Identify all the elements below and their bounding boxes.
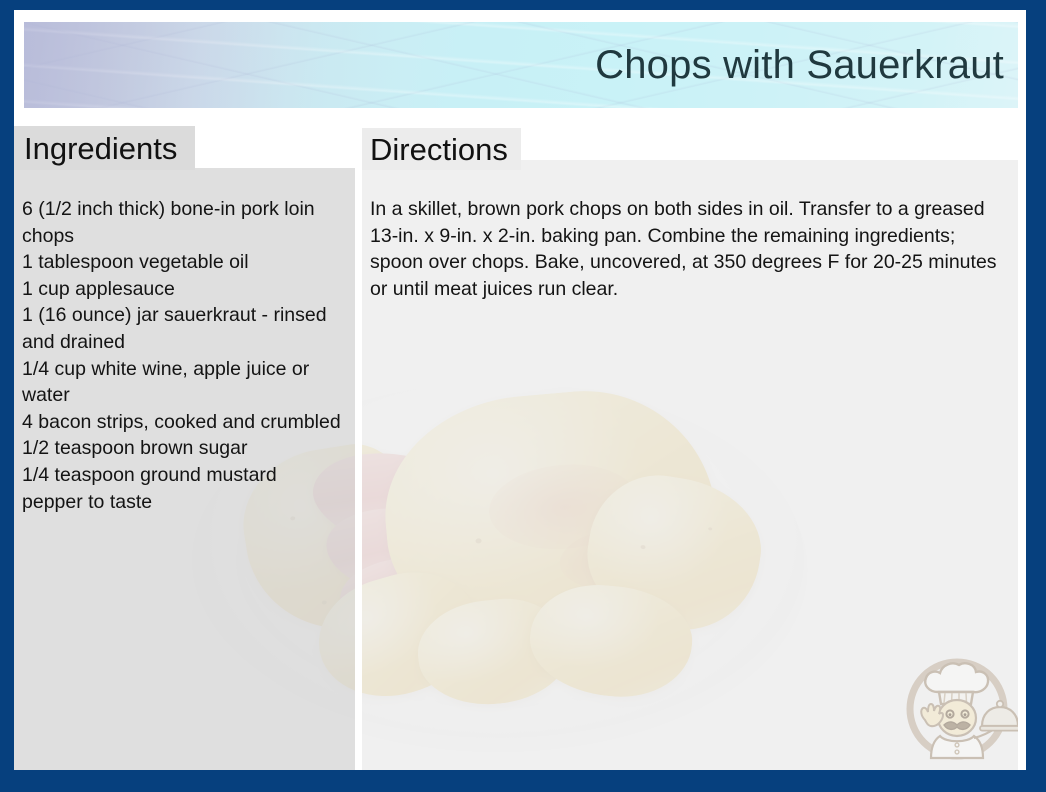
ingredient-item: 1 tablespoon vegetable oil — [22, 249, 350, 276]
page-title: Chops with Sauerkraut — [595, 44, 1004, 86]
frame-right — [1026, 0, 1046, 792]
tab-ingredients-label: Ingredients — [24, 133, 177, 164]
ingredients-list: 6 (1/2 inch thick) bone-in pork loin cho… — [22, 196, 350, 515]
tab-ingredients[interactable]: Ingredients — [14, 126, 195, 170]
chef-logo-icon — [896, 646, 1018, 768]
title-banner: Chops with Sauerkraut — [24, 22, 1018, 108]
frame-top — [0, 0, 1046, 10]
ingredient-item: 1 cup applesauce — [22, 276, 350, 303]
ingredient-item: pepper to taste — [22, 489, 350, 516]
tab-directions-label: Directions — [370, 134, 508, 165]
directions-text: In a skillet, brown pork chops on both s… — [370, 196, 1002, 302]
ingredient-item: 6 (1/2 inch thick) bone-in pork loin cho… — [22, 196, 350, 249]
recipe-slide: Ingredients Directions 6 (1/2 inch thick… — [0, 0, 1046, 792]
panel-divider — [355, 160, 362, 770]
frame-bottom — [0, 770, 1046, 792]
ingredient-item: 1 (16 ounce) jar sauerkraut - rinsed and… — [22, 302, 350, 355]
ingredient-item: 1/2 teaspoon brown sugar — [22, 435, 350, 462]
ingredient-item: 4 bacon strips, cooked and crumbled — [22, 409, 350, 436]
tab-directions[interactable]: Directions — [362, 128, 521, 170]
ingredient-item: 1/4 cup white wine, apple juice or water — [22, 356, 350, 409]
frame-left — [0, 0, 14, 792]
ingredient-item: 1/4 teaspoon ground mustard — [22, 462, 350, 489]
